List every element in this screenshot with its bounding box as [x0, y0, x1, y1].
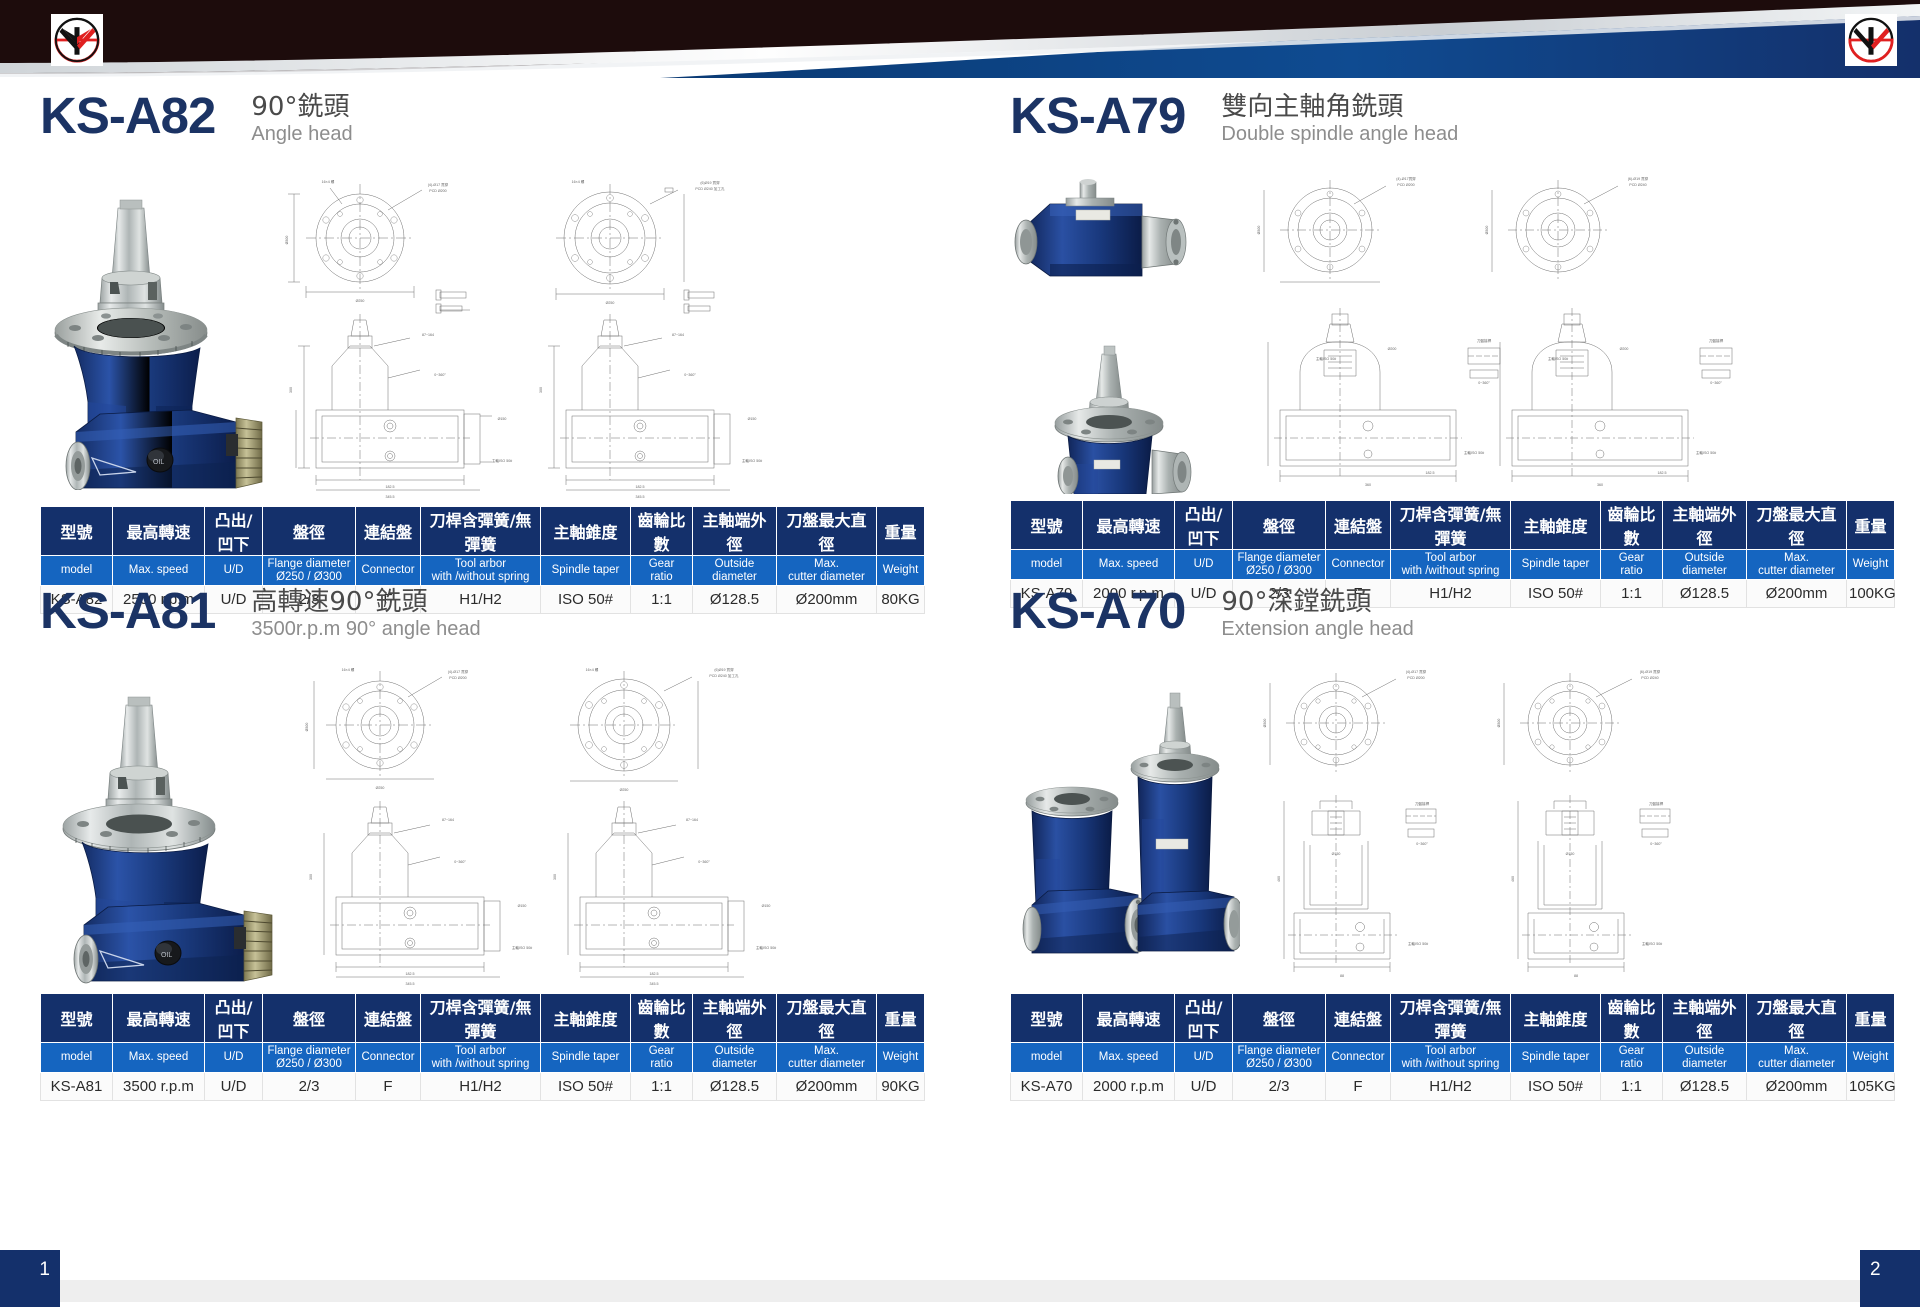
page-header-banner	[0, 0, 1920, 78]
th-en-10: Weight	[1847, 1043, 1895, 1073]
cell-max-cutter: Ø200mm	[777, 1073, 877, 1101]
th-en-5: Tool arborwith /without spring	[1391, 550, 1511, 580]
svg-text:345.5: 345.5	[386, 495, 395, 499]
product-block-ks-a79: KS-A79 雙向主軸角銑頭 Double spindle angle head	[1010, 88, 1890, 608]
svg-text:Ø200: Ø200	[1620, 347, 1629, 351]
company-logo-icon	[54, 17, 100, 63]
th-cn-4: 連結盤	[1326, 994, 1391, 1043]
drawing-svg: (4)-Ø17 貫穿 PCD Ø200 16×4 螺 Ø250 Ø300 (6)…	[270, 170, 960, 500]
svg-text:主軸ISO 50#: 主軸ISO 50#	[1696, 450, 1716, 455]
svg-text:主軸ISO 50#: 主軸ISO 50#	[1642, 941, 1662, 946]
svg-text:Ø250: Ø250	[356, 299, 365, 303]
th-en-4: Connector	[1326, 550, 1391, 580]
product-code: KS-A81	[40, 583, 215, 639]
svg-text:主軸ISO 50#: 主軸ISO 50#	[756, 945, 776, 950]
cell-max-speed: 3500 r.p.m	[113, 1073, 205, 1101]
svg-text:主軸ISO 50#: 主軸ISO 50#	[742, 458, 762, 463]
company-logo-right	[1845, 14, 1897, 66]
svg-text:300: 300	[539, 387, 543, 393]
drawing-svg: (4)-Ø17貫穿 PCD Ø200 (6)-Ø19 貫穿 PCD Ø240 Ø…	[1240, 164, 1880, 494]
svg-text:主軸ISO 50#: 主軸ISO 50#	[1548, 356, 1568, 361]
th-cn-1: 最高轉速	[113, 507, 205, 556]
svg-text:PCD Ø240: PCD Ø240	[1641, 676, 1658, 680]
th-cn-5: 刀桿含彈簧/無彈簧	[421, 507, 541, 556]
svg-text:Ø250: Ø250	[606, 301, 615, 305]
th-cn-3: 盤徑	[1233, 501, 1326, 550]
page-footer: 1 2	[0, 1250, 1920, 1311]
product-block-ks-a81: KS-A81 高轉速90°銑頭 3500r.p.m 90° angle head	[40, 583, 970, 1101]
th-en-8: Outsidediameter	[693, 556, 777, 586]
angle-head-illustration: OIL	[40, 170, 270, 490]
ks-a70-technical-drawing: (4)-Ø17 貫穿 PCD Ø200 (6)-Ø19 貫穿 PCD Ø240 …	[1240, 659, 1890, 989]
product-block-ks-a82: KS-A82 90°銑頭 Angle head	[40, 88, 970, 614]
ks-a79-product-photo	[1010, 164, 1240, 494]
th-cn-4: 連結盤	[1326, 501, 1391, 550]
th-en-0: model	[1011, 550, 1083, 580]
svg-text:Ø150: Ø150	[1566, 852, 1575, 856]
company-logo-left	[51, 14, 103, 66]
svg-text:16×4 螺: 16×4 螺	[342, 667, 355, 672]
svg-text:主軸ISO 50#: 主軸ISO 50#	[1316, 356, 1336, 361]
th-cn-9: 刀盤最大直徑	[1747, 994, 1847, 1043]
th-cn-9: 刀盤最大直徑	[777, 507, 877, 556]
th-cn-7: 齒輪比數	[631, 507, 693, 556]
table-row: KS-A70 2000 r.p.m U/D 2/3 F H1/H2 ISO 50…	[1011, 1073, 1895, 1101]
table-header-row-en: model Max. speed U/D Flange diameterØ250…	[41, 1043, 925, 1073]
svg-text:PCD Ø240: PCD Ø240	[1629, 183, 1646, 187]
th-cn-1: 最高轉速	[1083, 994, 1175, 1043]
svg-text:主軸ISO 50#: 主軸ISO 50#	[1464, 450, 1484, 455]
th-cn-0: 型號	[1011, 994, 1083, 1043]
cell-weight: 105KG	[1847, 1073, 1895, 1101]
cell-tool-arbor: H1/H2	[421, 1073, 541, 1101]
spec-table-ks-a70: 型號 最高轉速 凸出/凹下 盤徑 連結盤 刀桿含彈簧/無彈簧 主軸錐度 齒輪比數…	[1010, 993, 1895, 1101]
ks-a81-technical-drawing: (4)-Ø17 貫穿 PCD Ø200 16×4 螺 Ø250 Ø300 (6)…	[290, 659, 970, 989]
product-title-ks-a70: KS-A70 90°深鏜銑頭 Extension angle head	[1010, 583, 1890, 655]
cell-weight: 90KG	[877, 1073, 925, 1101]
th-cn-5: 刀桿含彈簧/無彈簧	[421, 994, 541, 1043]
svg-text:88: 88	[1574, 974, 1578, 978]
cell-ud: U/D	[205, 1073, 263, 1101]
svg-text:88: 88	[1340, 974, 1344, 978]
th-cn-0: 型號	[1011, 501, 1083, 550]
th-en-7: Gearratio	[1601, 1043, 1663, 1073]
th-en-7: Gearratio	[631, 1043, 693, 1073]
svg-text:PCD Ø200: PCD Ø200	[449, 676, 466, 680]
product-title-ks-a81: KS-A81 高轉速90°銑頭 3500r.p.m 90° angle head	[40, 583, 970, 655]
th-en-4: Connector	[1326, 1043, 1391, 1073]
ks-a79-technical-drawing: (4)-Ø17貫穿 PCD Ø200 (6)-Ø19 貫穿 PCD Ø240 Ø…	[1240, 164, 1890, 494]
cell-model: KS-A70	[1011, 1073, 1083, 1101]
table-header-row-cn: 型號 最高轉速 凸出/凹下 盤徑 連結盤 刀桿含彈簧/無彈簧 主軸錐度 齒輪比數…	[41, 507, 925, 556]
svg-text:Ø300: Ø300	[1257, 226, 1261, 235]
table-header-row-cn: 型號 最高轉速 凸出/凹下 盤徑 連結盤 刀桿含彈簧/無彈簧 主軸錐度 齒輪比數…	[1011, 501, 1895, 550]
drawing-svg: (4)-Ø17 貫穿 PCD Ø200 16×4 螺 Ø250 Ø300 (6)…	[290, 659, 960, 989]
double-spindle-illustration	[1010, 164, 1240, 494]
cell-max-speed: 2000 r.p.m	[1083, 1073, 1175, 1101]
th-en-5: Tool arborwith /without spring	[421, 1043, 541, 1073]
th-en-2: U/D	[205, 556, 263, 586]
svg-text:0~360°: 0~360°	[1650, 842, 1662, 846]
th-en-6: Spindle taper	[541, 1043, 631, 1073]
product-title-ks-a82: KS-A82 90°銑頭 Angle head	[40, 88, 970, 160]
company-logo-icon	[1848, 17, 1894, 63]
extension-angle-head-illustration	[1010, 659, 1240, 989]
svg-text:主軸ISO 50#: 主軸ISO 50#	[512, 945, 532, 950]
th-en-5: Tool arborwith /without spring	[421, 556, 541, 586]
th-cn-10: 重量	[1847, 994, 1895, 1043]
drawing-svg: (4)-Ø17 貫穿 PCD Ø200 (6)-Ø19 貫穿 PCD Ø240 …	[1240, 659, 1880, 989]
ks-a81-product-photo: OIL	[40, 659, 290, 989]
svg-text:0~360°: 0~360°	[1478, 381, 1490, 385]
th-en-8: Outsidediameter	[1663, 550, 1747, 580]
th-cn-6: 主軸錐度	[541, 994, 631, 1043]
th-cn-1: 最高轉速	[113, 994, 205, 1043]
th-cn-3: 盤徑	[1233, 994, 1326, 1043]
table-header-row-en: model Max. speed U/D Flange diameterØ250…	[41, 556, 925, 586]
svg-text:182.5: 182.5	[1658, 471, 1667, 475]
svg-text:(6)-Ø19 貫穿: (6)-Ø19 貫穿	[1628, 176, 1649, 181]
cell-tool-arbor: H1/H2	[1391, 1073, 1511, 1101]
svg-text:(6)-Ø19 貫穿: (6)-Ø19 貫穿	[1640, 669, 1661, 674]
th-cn-6: 主軸錐度	[541, 507, 631, 556]
svg-text:87~164: 87~164	[422, 333, 434, 337]
svg-text:Ø300: Ø300	[1485, 226, 1489, 235]
cell-flange: 2/3	[1233, 1073, 1326, 1101]
th-en-7: Gearratio	[631, 556, 693, 586]
product-title-cn: 雙向主軸角銑頭	[1221, 92, 1458, 122]
th-cn-9: 刀盤最大直徑	[777, 994, 877, 1043]
svg-text:(4)-Ø17 貫穿: (4)-Ø17 貫穿	[428, 182, 449, 187]
cell-connector: F	[1326, 1073, 1391, 1101]
th-cn-7: 齒輪比數	[1601, 994, 1663, 1043]
th-en-4: Connector	[356, 1043, 421, 1073]
th-cn-5: 刀桿含彈簧/無彈簧	[1391, 501, 1511, 550]
svg-text:Ø150: Ø150	[748, 417, 757, 421]
svg-text:300: 300	[289, 387, 293, 393]
th-cn-8: 主軸端外徑	[1663, 994, 1747, 1043]
th-en-9: Max.cutter diameter	[1747, 550, 1847, 580]
svg-text:Ø150: Ø150	[762, 904, 771, 908]
th-en-0: model	[41, 1043, 113, 1073]
th-en-6: Spindle taper	[1511, 550, 1601, 580]
svg-text:182.5: 182.5	[636, 485, 645, 489]
th-en-0: model	[1011, 1043, 1083, 1073]
th-cn-1: 最高轉速	[1083, 501, 1175, 550]
th-en-3: Flange diameterØ250 / Ø300	[1233, 1043, 1326, 1073]
svg-text:Ø250: Ø250	[376, 786, 385, 790]
th-en-0: model	[41, 556, 113, 586]
th-cn-9: 刀盤最大直徑	[1747, 501, 1847, 550]
svg-text:主軸ISO 50#: 主軸ISO 50#	[492, 458, 512, 463]
product-title-cn: 高轉速90°銑頭	[251, 587, 480, 617]
th-cn-0: 型號	[41, 994, 113, 1043]
spec-table-ks-a81: 型號 最高轉速 凸出/凹下 盤徑 連結盤 刀桿含彈簧/無彈簧 主軸錐度 齒輪比數…	[40, 993, 925, 1101]
svg-text:0~360°: 0~360°	[434, 373, 446, 377]
svg-text:345.5: 345.5	[406, 982, 415, 986]
svg-text:87~164: 87~164	[686, 818, 698, 822]
svg-text:OIL: OIL	[161, 952, 172, 959]
product-title-en: Extension angle head	[1221, 617, 1413, 642]
table-header-row-cn: 型號 最高轉速 凸出/凹下 盤徑 連結盤 刀桿含彈簧/無彈簧 主軸錐度 齒輪比數…	[41, 994, 925, 1043]
svg-text:0~360°: 0~360°	[454, 860, 466, 864]
svg-text:Ø250: Ø250	[620, 788, 629, 792]
table-header-row-cn: 型號 最高轉速 凸出/凹下 盤徑 連結盤 刀桿含彈簧/無彈簧 主軸錐度 齒輪比數…	[1011, 994, 1895, 1043]
cell-spindle-taper: ISO 50#	[541, 1073, 631, 1101]
product-title-cn: 90°深鏜銑頭	[1221, 587, 1413, 617]
th-cn-2: 凸出/凹下	[205, 507, 263, 556]
th-en-3: Flange diameterØ250 / Ø300	[263, 1043, 356, 1073]
th-en-9: Max.cutter diameter	[1747, 1043, 1847, 1073]
th-cn-6: 主軸錐度	[1511, 501, 1601, 550]
svg-text:0~360°: 0~360°	[684, 373, 696, 377]
th-en-8: Outsidediameter	[693, 1043, 777, 1073]
svg-text:182.5: 182.5	[1426, 471, 1435, 475]
th-cn-2: 凸出/凹下	[205, 994, 263, 1043]
cell-spindle-taper: ISO 50#	[1511, 1073, 1601, 1101]
footer-divider-bar	[60, 1280, 1860, 1302]
cell-gear-ratio: 1:1	[631, 1073, 693, 1101]
th-en-3: Flange diameterØ250 / Ø300	[1233, 550, 1326, 580]
th-cn-3: 盤徑	[263, 507, 356, 556]
th-en-7: Gearratio	[1601, 550, 1663, 580]
th-cn-10: 重量	[877, 507, 925, 556]
svg-text:(6)Ø19 貫穿: (6)Ø19 貫穿	[714, 667, 734, 672]
svg-text:PCD Ø240 加工孔: PCD Ø240 加工孔	[709, 673, 739, 678]
page-number-left: 1	[0, 1250, 60, 1307]
svg-text:(4)-Ø17 貫穿: (4)-Ø17 貫穿	[448, 669, 469, 674]
svg-text:刀盤接桿: 刀盤接桿	[1709, 338, 1724, 343]
svg-text:Ø150: Ø150	[518, 904, 527, 908]
cell-outside-dia: Ø128.5	[693, 1073, 777, 1101]
product-title-en: 3500r.p.m 90° angle head	[251, 617, 480, 642]
th-en-6: Spindle taper	[541, 556, 631, 586]
th-en-1: Max. speed	[113, 556, 205, 586]
ks-a82-technical-drawing: (4)-Ø17 貫穿 PCD Ø200 16×4 螺 Ø250 Ø300 (6)…	[270, 170, 970, 500]
svg-text:PCD Ø200: PCD Ø200	[1407, 676, 1424, 680]
product-code: KS-A79	[1010, 88, 1185, 144]
header-swoosh-graphic	[0, 0, 1920, 78]
th-en-2: U/D	[205, 1043, 263, 1073]
ks-a82-product-photo: OIL	[40, 170, 270, 490]
svg-text:360: 360	[1365, 483, 1371, 487]
cell-connector: F	[356, 1073, 421, 1101]
svg-text:Ø150: Ø150	[1332, 852, 1341, 856]
th-cn-8: 主軸端外徑	[693, 994, 777, 1043]
th-cn-2: 凸出/凹下	[1175, 994, 1233, 1043]
table-header-row-en: model Max. speed U/D Flange diameterØ250…	[1011, 1043, 1895, 1073]
cell-flange: 2/3	[263, 1073, 356, 1101]
th-en-10: Weight	[877, 1043, 925, 1073]
th-cn-4: 連結盤	[356, 507, 421, 556]
th-cn-7: 齒輪比數	[631, 994, 693, 1043]
svg-text:182.5: 182.5	[406, 972, 415, 976]
th-cn-5: 刀桿含彈簧/無彈簧	[1391, 994, 1511, 1043]
product-block-ks-a70: KS-A70 90°深鏜銑頭 Extension angle head	[1010, 583, 1890, 1101]
product-code: KS-A82	[40, 88, 215, 144]
th-cn-10: 重量	[1847, 501, 1895, 550]
svg-text:300: 300	[553, 874, 557, 880]
th-cn-7: 齒輪比數	[1601, 501, 1663, 550]
svg-text:16×4 螺: 16×4 螺	[322, 179, 335, 184]
catalog-sheet: KS-A82 90°銑頭 Angle head	[0, 78, 1920, 1250]
th-cn-6: 主軸錐度	[1511, 994, 1601, 1043]
th-en-4: Connector	[356, 556, 421, 586]
svg-text:PCD Ø200: PCD Ø200	[429, 189, 446, 193]
cell-gear-ratio: 1:1	[1601, 1073, 1663, 1101]
product-title-cn: 90°銑頭	[251, 92, 352, 122]
svg-text:OIL: OIL	[153, 459, 164, 466]
svg-text:(4)-Ø17 貫穿: (4)-Ø17 貫穿	[1406, 669, 1427, 674]
th-cn-0: 型號	[41, 507, 113, 556]
svg-text:16×4 螺: 16×4 螺	[586, 667, 599, 672]
product-title-ks-a79: KS-A79 雙向主軸角銑頭 Double spindle angle head	[1010, 88, 1890, 160]
svg-text:0~360°: 0~360°	[1710, 381, 1722, 385]
table-header-row-en: model Max. speed U/D Flange diameterØ250…	[1011, 550, 1895, 580]
th-en-1: Max. speed	[113, 1043, 205, 1073]
cell-model: KS-A81	[41, 1073, 113, 1101]
th-en-2: U/D	[1175, 550, 1233, 580]
svg-text:Ø300: Ø300	[1497, 719, 1501, 728]
svg-text:Ø150: Ø150	[498, 417, 507, 421]
angle-head-illustration: OIL	[40, 659, 290, 989]
th-cn-3: 盤徑	[263, 994, 356, 1043]
th-en-2: U/D	[1175, 1043, 1233, 1073]
svg-text:345.5: 345.5	[650, 982, 659, 986]
svg-text:PCD Ø240 加工孔: PCD Ø240 加工孔	[695, 186, 725, 191]
th-cn-10: 重量	[877, 994, 925, 1043]
th-cn-8: 主軸端外徑	[693, 507, 777, 556]
th-en-8: Outsidediameter	[1663, 1043, 1747, 1073]
svg-text:Ø300: Ø300	[1263, 719, 1267, 728]
svg-text:主軸ISO 50#: 主軸ISO 50#	[1408, 941, 1428, 946]
svg-text:345.5: 345.5	[636, 495, 645, 499]
th-en-5: Tool arborwith /without spring	[1391, 1043, 1511, 1073]
page-number-right: 2	[1860, 1250, 1920, 1307]
th-en-10: Weight	[1847, 550, 1895, 580]
product-title-en: Angle head	[251, 122, 352, 147]
svg-text:Ø300: Ø300	[305, 723, 309, 732]
svg-text:0~360°: 0~360°	[698, 860, 710, 864]
svg-text:刀盤接桿: 刀盤接桿	[1649, 801, 1664, 806]
th-cn-2: 凸出/凹下	[1175, 501, 1233, 550]
svg-text:360: 360	[1597, 483, 1603, 487]
cell-ud: U/D	[1175, 1073, 1233, 1101]
svg-text:16×4 螺: 16×4 螺	[572, 179, 585, 184]
svg-text:0~360°: 0~360°	[1416, 842, 1428, 846]
svg-text:460: 460	[1277, 876, 1281, 882]
svg-text:182.5: 182.5	[386, 485, 395, 489]
th-cn-4: 連結盤	[356, 994, 421, 1043]
th-en-9: Max.cutter diameter	[777, 556, 877, 586]
th-en-6: Spindle taper	[1511, 1043, 1601, 1073]
svg-text:(6)Ø19 貫穿: (6)Ø19 貫穿	[700, 180, 720, 185]
ks-a70-product-photo	[1010, 659, 1240, 989]
svg-text:182.5: 182.5	[650, 972, 659, 976]
th-en-9: Max.cutter diameter	[777, 1043, 877, 1073]
svg-text:PCD Ø200: PCD Ø200	[1397, 183, 1414, 187]
th-en-1: Max. speed	[1083, 1043, 1175, 1073]
svg-text:300: 300	[309, 874, 313, 880]
product-code: KS-A70	[1010, 583, 1185, 639]
svg-text:Ø300: Ø300	[285, 236, 289, 245]
svg-text:87~164: 87~164	[442, 818, 454, 822]
th-en-10: Weight	[877, 556, 925, 586]
th-cn-8: 主軸端外徑	[1663, 501, 1747, 550]
table-row: KS-A81 3500 r.p.m U/D 2/3 F H1/H2 ISO 50…	[41, 1073, 925, 1101]
svg-text:87~164: 87~164	[672, 333, 684, 337]
th-en-3: Flange diameterØ250 / Ø300	[263, 556, 356, 586]
svg-text:刀盤接桿: 刀盤接桿	[1477, 338, 1492, 343]
svg-text:Ø200: Ø200	[1388, 347, 1397, 351]
svg-text:(4)-Ø17貫穿: (4)-Ø17貫穿	[1396, 176, 1416, 181]
cell-outside-dia: Ø128.5	[1663, 1073, 1747, 1101]
cell-max-cutter: Ø200mm	[1747, 1073, 1847, 1101]
svg-text:刀盤接桿: 刀盤接桿	[1415, 801, 1430, 806]
svg-text:460: 460	[1511, 876, 1515, 882]
th-en-1: Max. speed	[1083, 550, 1175, 580]
product-title-en: Double spindle angle head	[1221, 122, 1458, 147]
